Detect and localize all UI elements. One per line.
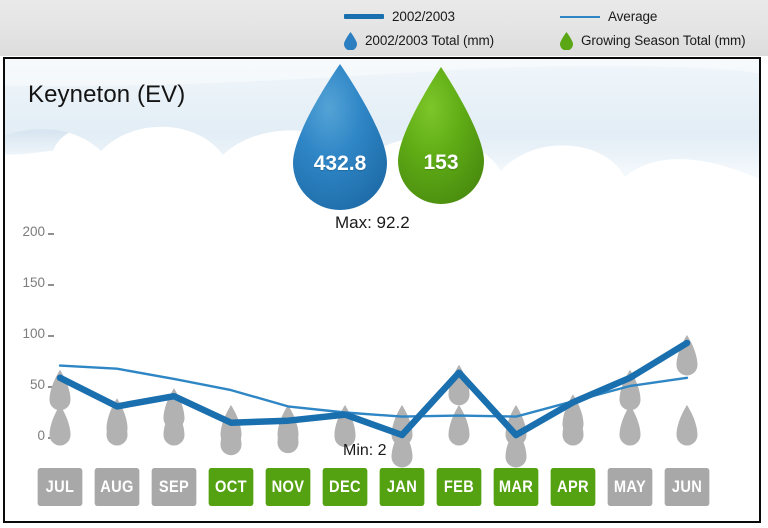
water-droplet-icon bbox=[344, 32, 357, 50]
chart-panel: Keyneton (EV) 432 bbox=[3, 57, 761, 523]
legend-item-growing-total: Growing Season Total (mm) bbox=[560, 31, 746, 50]
max-label: Max: 92.2 bbox=[335, 213, 505, 233]
legend-item-season: 2002/2003 bbox=[344, 7, 560, 26]
month-strip: JULAUGSEPOCTNOVDECJANFEBMARAPRMAYJUN bbox=[5, 468, 759, 516]
month-button-jun[interactable]: JUN bbox=[665, 468, 710, 506]
legend-label-season: 2002/2003 bbox=[392, 9, 455, 24]
water-droplet-icon bbox=[560, 32, 573, 50]
month-button-nov[interactable]: NOV bbox=[266, 468, 311, 506]
month-button-feb[interactable]: FEB bbox=[437, 468, 482, 506]
legend-label-season-total: 2002/2003 Total (mm) bbox=[365, 33, 494, 48]
month-button-dec[interactable]: DEC bbox=[323, 468, 368, 506]
monthly-droplet-icon bbox=[620, 405, 641, 446]
month-button-oct[interactable]: OCT bbox=[209, 468, 254, 506]
month-button-mar[interactable]: MAR bbox=[494, 468, 539, 506]
line-swatch-icon bbox=[560, 16, 600, 18]
month-button-apr[interactable]: APR bbox=[551, 468, 596, 506]
season-total-value: 432.8 bbox=[293, 152, 387, 176]
season-total-droplet-icon bbox=[293, 64, 387, 210]
growing-total-value: 153 bbox=[398, 151, 484, 175]
min-label: Min: 2 bbox=[343, 442, 513, 460]
month-button-aug[interactable]: AUG bbox=[95, 468, 140, 506]
month-button-jan[interactable]: JAN bbox=[380, 468, 425, 506]
season-series-line bbox=[60, 343, 687, 435]
legend-bar: 2002/2003 Average 2002/2003 Total (mm) G… bbox=[0, 0, 768, 56]
legend-label-growing-total: Growing Season Total (mm) bbox=[581, 33, 746, 48]
month-button-jul[interactable]: JUL bbox=[38, 468, 83, 506]
month-button-may[interactable]: MAY bbox=[608, 468, 653, 506]
legend-item-season-total: 2002/2003 Total (mm) bbox=[344, 31, 560, 50]
monthly-droplet-icon bbox=[449, 405, 470, 446]
legend-grid: 2002/2003 Average 2002/2003 Total (mm) G… bbox=[344, 7, 746, 50]
legend-item-average: Average bbox=[560, 7, 746, 26]
legend-label-average: Average bbox=[608, 9, 657, 24]
line-swatch-icon bbox=[344, 14, 384, 19]
monthly-droplet-icon bbox=[50, 405, 71, 446]
monthly-droplet-icon bbox=[107, 405, 128, 446]
monthly-droplet-icon bbox=[677, 405, 698, 446]
monthly-droplet-icon bbox=[278, 405, 299, 446]
month-button-sep[interactable]: SEP bbox=[152, 468, 197, 506]
growing-total-droplet-icon bbox=[398, 67, 484, 204]
